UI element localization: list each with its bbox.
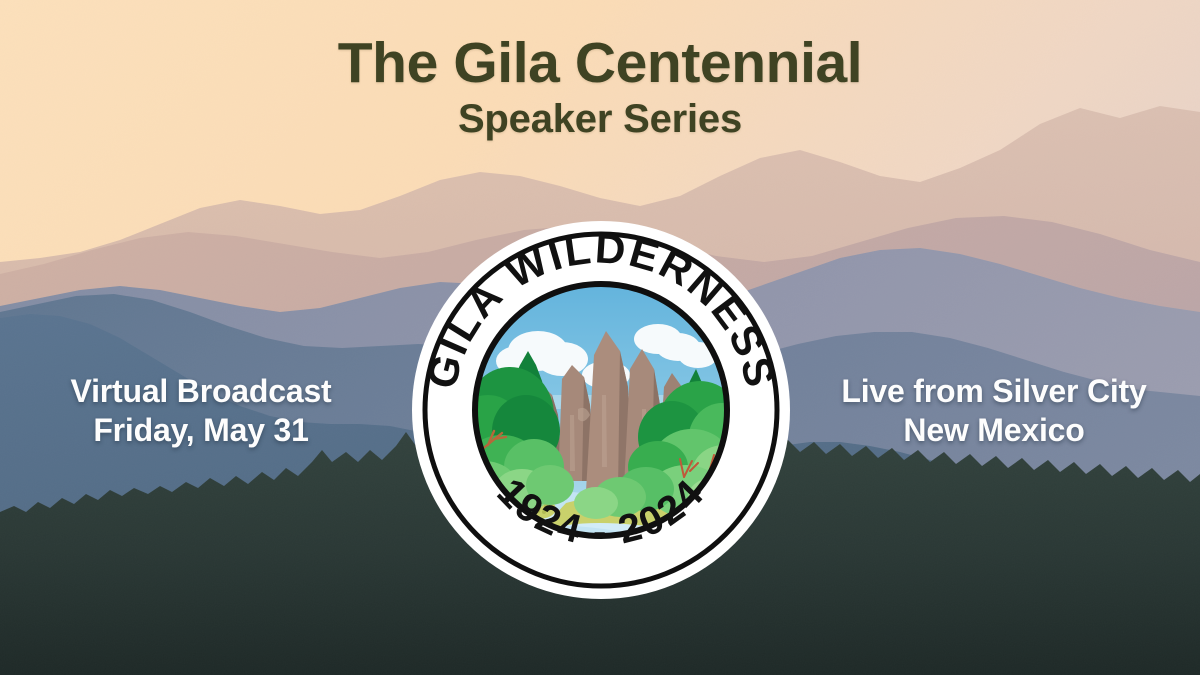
page-subtitle: Speaker Series	[0, 97, 1200, 141]
gila-wilderness-centennial-badge: GILA WILDERNESS 1924 - 2024	[410, 219, 792, 601]
location-info: Live from Silver City New Mexico	[800, 372, 1188, 450]
broadcast-info: Virtual Broadcast Friday, May 31	[26, 372, 376, 450]
broadcast-date: Friday, May 31	[26, 411, 376, 450]
promo-graphic: The Gila Centennial Speaker Series Virtu…	[0, 0, 1200, 675]
location-city: Live from Silver City	[800, 372, 1188, 411]
headline-group: The Gila Centennial Speaker Series	[0, 34, 1200, 141]
broadcast-label: Virtual Broadcast	[26, 372, 376, 411]
page-title: The Gila Centennial	[0, 34, 1200, 93]
location-state: New Mexico	[800, 411, 1188, 450]
